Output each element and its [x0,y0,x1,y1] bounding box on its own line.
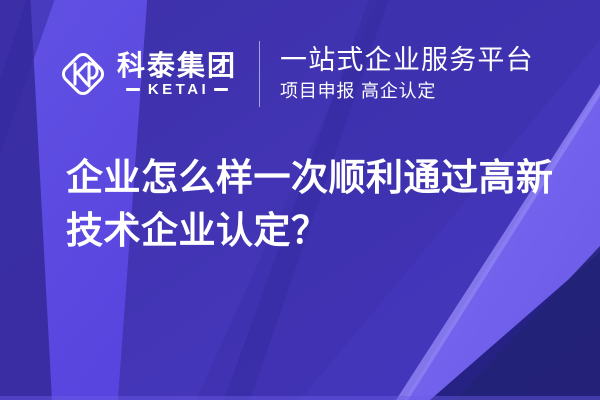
tagline-block: 一站式企业服务平台 项目申报 高企认定 [280,46,534,101]
tagline-secondary: 项目申报 高企认定 [280,81,534,102]
page-title: 企业怎么样一次顺利通过高新技术企业认定？ [66,152,572,257]
banner-header: 科泰集团 KETAI 一站式企业服务平台 项目申报 高企认定 [58,36,534,112]
background-bottom-strip [0,396,600,400]
dash-icon [214,88,228,91]
vertical-divider-icon [259,41,260,107]
tagline-primary: 一站式企业服务平台 [280,46,534,76]
brand-name-cn: 科泰集团 [117,51,237,81]
brand-wordmark: 科泰集团 KETAI [117,51,237,97]
dash-icon [126,88,140,91]
brand-name-en: KETAI [145,82,209,97]
brand-name-en-row: KETAI [117,82,237,97]
brand-logo[interactable]: 科泰集团 KETAI [58,49,237,99]
ketai-diamond-kp-logo-icon [58,49,108,99]
promo-banner: 科泰集团 KETAI 一站式企业服务平台 项目申报 高企认定 企业怎么样一次顺利… [0,0,600,400]
